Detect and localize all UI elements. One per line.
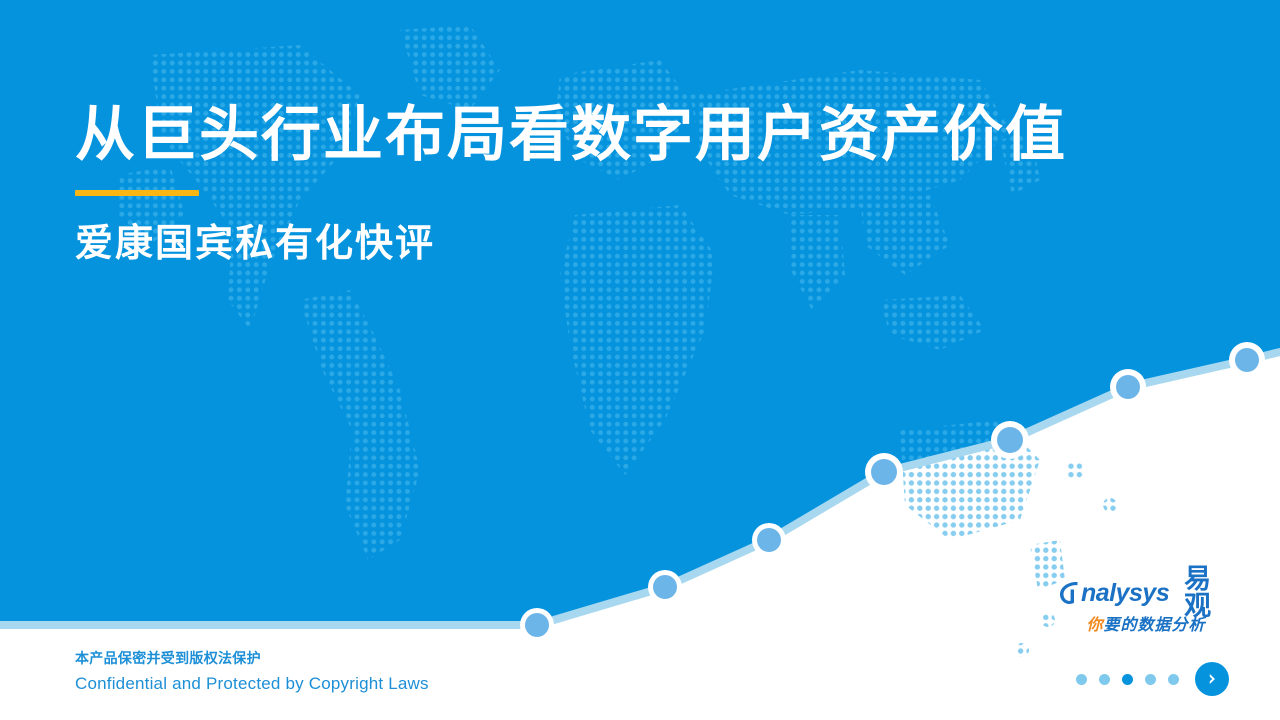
logo-wordmark-row: nalysys 易观	[1058, 578, 1218, 608]
pagination-dot-1[interactable]	[1076, 674, 1087, 685]
page-subtitle: 爱康国宾私有化快评	[75, 222, 1175, 268]
pagination-dot-5[interactable]	[1168, 674, 1179, 685]
title-divider	[75, 190, 199, 196]
confidential-notice-en: Confidential and Protected by Copyright …	[75, 671, 429, 697]
logo-wordmark: nalysys	[1081, 581, 1169, 606]
logo-tagline-accent: 你	[1086, 617, 1103, 634]
next-slide-button[interactable]	[1195, 662, 1229, 696]
title-block: 从巨头行业布局看数字用户资产价值 爱康国宾私有化快评	[75, 100, 1175, 268]
analysys-logo: nalysys 易观 你要的数据分析	[1058, 578, 1218, 635]
slide-pagination[interactable]	[1076, 658, 1229, 700]
logo-tagline-rest: 要的数据分析	[1104, 617, 1206, 634]
confidential-notice: 本产品保密并受到版权法保护 Confidential and Protected…	[75, 648, 429, 697]
pagination-dot-2[interactable]	[1099, 674, 1110, 685]
page-title: 从巨头行业布局看数字用户资产价值	[75, 100, 1175, 169]
pagination-dot-4[interactable]	[1145, 674, 1156, 685]
logo-tagline: 你要的数据分析	[1058, 611, 1218, 635]
analysys-swoosh-icon	[1058, 580, 1080, 606]
confidential-notice-cn: 本产品保密并受到版权法保护	[75, 648, 429, 669]
title-slide: 从巨头行业布局看数字用户资产价值 爱康国宾私有化快评 本产品保密并受到版权法保护…	[0, 0, 1280, 720]
chevron-right-icon	[1204, 671, 1220, 687]
pagination-dot-3-active[interactable]	[1122, 674, 1133, 685]
